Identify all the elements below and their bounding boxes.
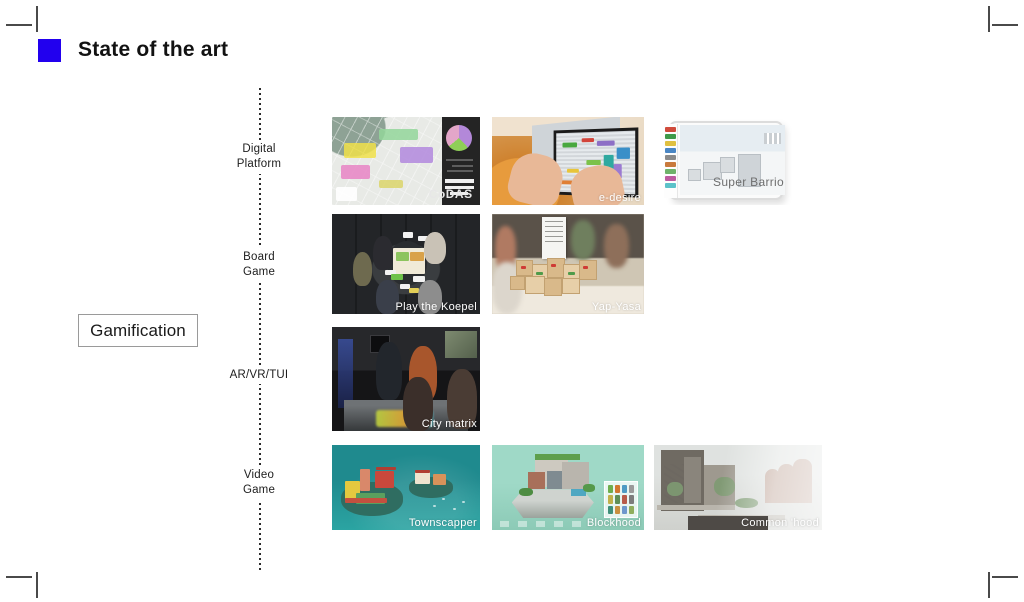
koepel-person-1 [353,252,372,286]
yapyasa-marker-red-3 [583,266,588,269]
slide-canvas: State of the art Gamification Digital Pl… [0,0,1024,602]
gamification-label-box: Gamification [78,314,198,347]
blockhood-palette-item-1[interactable] [608,485,613,493]
thumbnail-city-matrix[interactable]: City matrix [332,327,480,431]
super-barrio-facade-strip [764,133,781,144]
city-matrix-side-screen [338,339,353,408]
blockhood-block-glass [547,471,562,490]
yapyasa-person-3 [604,224,628,268]
super-barrio-tool-9[interactable] [665,183,677,188]
crop-mark-bottom-left-h [6,576,32,578]
codas-logo: CoDAS [429,187,473,201]
thumbnail-play-the-koepel[interactable]: Play the Koepel [332,214,480,314]
axis-label-video-game: Video Game [215,468,303,498]
slide-title-row: State of the art [38,38,228,62]
yapyasa-sheet-line-4 [545,236,563,237]
thumbnail-common-hood[interactable]: Common 'hood [654,445,822,530]
yapyasa-block-8 [562,278,580,294]
blockhood-palette-item-2[interactable] [615,485,620,493]
crop-mark-bottom-right-h [992,576,1018,578]
super-barrio-tool-4[interactable] [665,148,677,153]
koepel-board-amber [410,252,423,261]
townscapper-house-red [375,471,394,488]
codas-legend-box [336,187,357,200]
yapyasa-marker-green-2 [568,272,575,275]
gamification-label-text: Gamification [90,321,186,341]
codas-annotation-purple [400,147,433,163]
codas-panel-input-1[interactable] [445,179,475,183]
yapyasa-person-2 [571,220,595,260]
blockhood-palette-item-4[interactable] [629,485,634,493]
thumbnail-caption-blockhood: Blockhood [587,517,641,529]
townscapper-roof-red-3 [415,470,430,473]
super-barrio-tool-2[interactable] [665,134,677,139]
thumbnail-yap-yasa[interactable]: Yap-Yasa [492,214,644,314]
yapyasa-block-7 [544,278,562,296]
blockhood-palette-item-7[interactable] [622,495,627,503]
koepel-card-1 [403,232,413,238]
blockhood-palette-item-8[interactable] [629,495,634,503]
thumbnail-caption-yap-yasa: Yap-Yasa [592,301,641,313]
axis-label-ar-vr-tui-line1: AR/VR/TUI [212,368,306,383]
yapyasa-block-5 [579,260,597,280]
thumbnail-townscapper[interactable]: Townscapper [332,445,480,530]
super-barrio-tool-palette[interactable] [664,124,679,198]
thumbnail-caption-common-hood: Common 'hood [741,517,819,529]
super-barrio-tool-8[interactable] [665,176,677,181]
blockhood-vegetation-2 [583,484,595,492]
axis-label-board-game: Board Game [215,250,303,280]
townscapper-wave-1 [433,505,436,507]
super-barrio-building-3 [720,157,735,172]
axis-label-board-game-line1: Board [215,250,303,265]
thumbnail-caption-re-desire: e-desire [599,192,641,204]
blockhood-palette-item-6[interactable] [615,495,620,503]
koepel-card-green [391,274,403,280]
title-bullet-square-icon [38,39,61,62]
koepel-board-green [396,252,409,261]
townscapper-roof-red-2 [376,467,395,470]
yapyasa-marker-red-2 [551,264,556,267]
blockhood-palette-item-12[interactable] [629,506,634,514]
blockhood-hud-bar [500,521,585,528]
codas-annotation-pink [341,165,371,179]
redesire-block-green [562,142,577,147]
page-title: State of the art [78,38,228,62]
townscapper-house-orange [433,474,446,485]
codas-panel-line-3 [447,170,472,172]
super-barrio-tool-1[interactable] [665,127,677,132]
yapyasa-sheet-line-1 [545,221,563,222]
codas-panel-line-1 [446,159,473,161]
city-matrix-person-1 [376,342,401,400]
yapyasa-marker-green-1 [536,272,543,275]
axis-label-video-game-line2: Game [215,483,303,498]
crop-mark-top-right-h [992,24,1018,26]
crop-mark-top-left-h [6,24,32,26]
crop-mark-top-left-v [36,6,38,32]
townscapper-wave-2 [442,498,445,500]
super-barrio-tool-7[interactable] [665,169,677,174]
thumbnail-codas[interactable]: CoDAS [332,117,480,205]
blockhood-palette-item-5[interactable] [608,495,613,503]
thumbnail-caption-play-the-koepel: Play the Koepel [395,301,477,313]
thumbnail-caption-super-barrio: Super Barrio [713,175,784,189]
axis-label-board-game-line2: Game [215,265,303,280]
blockhood-block-brick [528,472,545,489]
axis-label-digital-platform: Digital Platform [215,142,303,172]
redesire-block-blue [616,148,629,159]
koepel-person-3 [424,232,446,264]
super-barrio-building-4 [688,169,701,182]
crop-mark-bottom-left-v [36,572,38,598]
yapyasa-sheet-line-5 [545,241,563,242]
super-barrio-tool-3[interactable] [665,141,677,146]
townscapper-house-tower [360,469,370,491]
yapyasa-rule-sheet [542,217,566,259]
codas-annotation-green [379,129,417,140]
codas-panel-line-2 [452,165,473,167]
blockhood-block-green-roof [535,454,581,461]
blockhood-palette-item-11[interactable] [622,506,627,514]
thumbnail-caption-townscapper: Townscapper [409,517,477,529]
yapyasa-sheet-line-2 [545,226,563,227]
crop-mark-bottom-right-v [988,572,990,598]
codas-pie-chart [446,125,472,151]
city-matrix-wall-projection [445,331,478,358]
crop-mark-top-right-v [988,6,990,32]
blockhood-resource-palette[interactable] [604,481,637,518]
koepel-person-2 [373,236,392,270]
blockhood-palette-item-9[interactable] [608,506,613,514]
townscapper-roof-red-1 [345,498,386,503]
yapyasa-sheet-line-3 [545,231,563,232]
blockhood-vegetation-1 [519,488,533,497]
yapyasa-block-9 [510,276,525,290]
codas-annotation-yellow [344,143,377,158]
axis-label-video-game-line1: Video [215,468,303,483]
blockhood-palette-item-3[interactable] [622,485,627,493]
redesire-block-purple [597,141,615,146]
yapyasa-marker-red-1 [521,266,526,269]
super-barrio-tool-5[interactable] [665,155,677,160]
thumbnail-re-desire[interactable]: e-desire [492,117,644,205]
yapyasa-block-3 [547,258,565,278]
axis-label-digital-platform-line1: Digital [215,142,303,157]
blockhood-palette-item-10[interactable] [615,506,620,514]
codas-annotation-olive [379,180,403,188]
thumbnail-blockhood[interactable]: Blockhood [492,445,644,530]
yapyasa-block-6 [525,276,545,294]
axis-label-digital-platform-line2: Platform [215,157,303,172]
thumbnail-caption-city-matrix: City matrix [422,418,477,430]
townscapper-house-cream [415,472,430,484]
thumbnail-super-barrio[interactable]: Super Barrio [660,117,792,205]
axis-label-ar-vr-tui: AR/VR/TUI [212,368,306,383]
super-barrio-tool-6[interactable] [665,162,677,167]
